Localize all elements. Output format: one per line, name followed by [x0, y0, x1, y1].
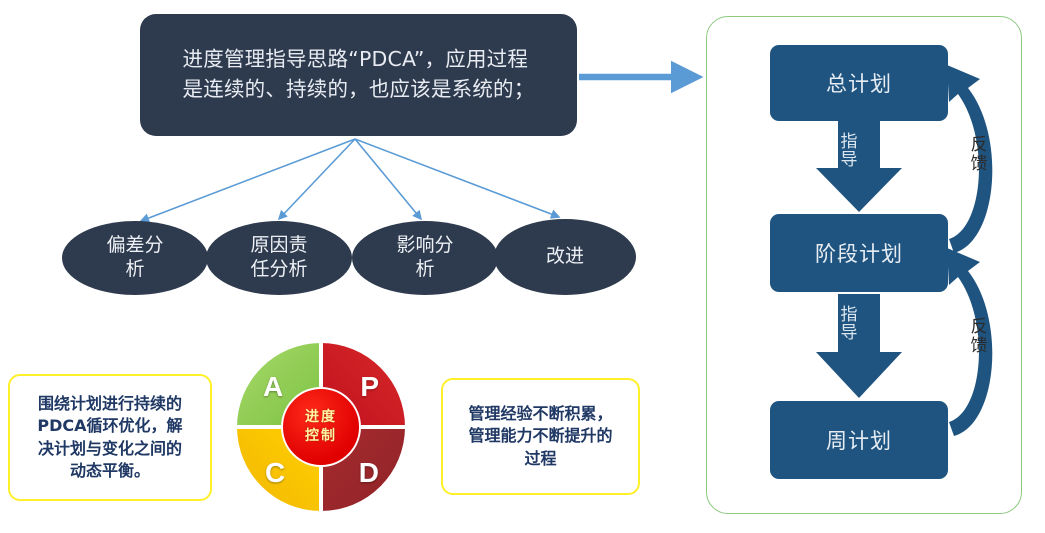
pdca-wheel: A P C D 进度 控制 [237, 343, 405, 511]
analysis-node-label: 原因责 任分析 [250, 234, 307, 282]
diagram-canvas: 进度管理指导思路“PDCA”，应用过程 是连续的、持续的，也应该是系统的； 偏差… [0, 0, 1045, 533]
analysis-node-improvement[interactable]: 改进 [494, 219, 636, 295]
analysis-node-cause-responsibility[interactable]: 原因责 任分析 [206, 221, 352, 295]
analysis-node-label: 影响分 析 [396, 234, 453, 282]
analysis-node-label: 偏差分 析 [106, 234, 163, 282]
analysis-node-deviation[interactable]: 偏差分 析 [62, 221, 208, 295]
pdca-letter-c: C [265, 457, 285, 489]
plan-box-label: 周计划 [826, 425, 892, 455]
pdca-hub: 进度 控制 [281, 387, 361, 467]
feedback-arrow-label-2: 反 馈 [968, 318, 990, 355]
analysis-node-label: 改进 [546, 245, 584, 269]
plan-box-weekly[interactable]: 周计划 [770, 401, 948, 479]
guide-arrow-label-2: 指 导 [838, 307, 860, 343]
feedback-arrow-label-1: 反 馈 [968, 136, 990, 173]
pdca-hub-label: 进度 控制 [305, 408, 337, 446]
note-text: 管理经验不断积累， 管理能力不断提升的 过程 [468, 403, 612, 469]
fan-arrow-4 [355, 139, 559, 217]
pdca-letter-a: A [263, 371, 283, 403]
pdca-letter-p: P [360, 371, 379, 403]
fan-arrow-2 [279, 139, 355, 219]
note-text: 围绕计划进行持续的 PDCA循环优化，解 决计划与变化之间的 动态平衡。 [37, 393, 182, 481]
pdca-letter-d: D [359, 457, 379, 489]
plan-box-master[interactable]: 总计划 [770, 45, 948, 121]
fan-arrow-3 [355, 139, 421, 219]
guide-arrow-label-1: 指 导 [838, 134, 860, 170]
fan-arrow-group [141, 139, 559, 221]
plan-box-label: 阶段计划 [815, 238, 903, 268]
fan-arrow-1 [141, 139, 355, 221]
statement-box: 进度管理指导思路“PDCA”，应用过程 是连续的、持续的，也应该是系统的； [140, 14, 577, 136]
plan-box-stage[interactable]: 阶段计划 [770, 214, 948, 292]
analysis-node-impact[interactable]: 影响分 析 [352, 221, 498, 295]
note-card-management-experience: 管理经验不断积累， 管理能力不断提升的 过程 [441, 378, 640, 495]
plan-box-label: 总计划 [826, 68, 892, 98]
note-card-pdca-optimization: 围绕计划进行持续的 PDCA循环优化，解 决计划与变化之间的 动态平衡。 [8, 374, 212, 501]
statement-text: 进度管理指导思路“PDCA”，应用过程 是连续的、持续的，也应该是系统的； [183, 45, 535, 104]
